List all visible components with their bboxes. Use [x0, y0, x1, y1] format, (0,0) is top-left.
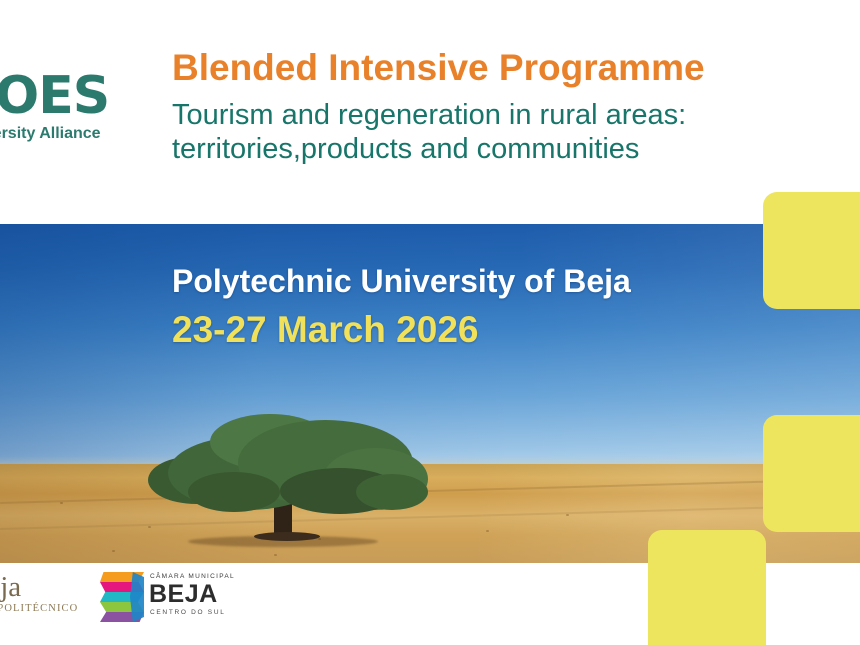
programme-subtitle-line1: Tourism and regeneration in rural areas:: [172, 98, 832, 132]
cork-oak-tree: [148, 412, 428, 544]
field-speck: [60, 502, 63, 504]
hero-text-block: Polytechnic University of Beja 23-27 Mar…: [172, 262, 631, 351]
event-dates: 23-27 March 2026: [172, 308, 631, 351]
ipbeja-wordmark: Beja: [0, 572, 21, 602]
tree-base: [254, 532, 320, 541]
tree-canopy: [188, 472, 280, 512]
poster-header: ROES University Alliance Blended Intensi…: [0, 0, 860, 224]
field-speck: [566, 514, 569, 516]
ipbeja-subline-1: UTO POLITÉCNICO: [0, 603, 78, 614]
field-speck: [486, 530, 489, 532]
centro-do-sul-label: CENTRO DO SUL: [150, 609, 226, 616]
tree-canopy: [356, 474, 428, 510]
beja-b-mark-icon: [100, 572, 144, 622]
event-poster: ROES University Alliance Blended Intensi…: [0, 0, 860, 645]
roes-alliance-logo: ROES University Alliance: [0, 70, 146, 148]
camara-municipal-label: CÂMARA MUNICIPAL: [150, 573, 235, 580]
beja-wordmark: BEJA: [149, 581, 218, 607]
beja-mark-spine: [130, 572, 144, 622]
roes-wordmark: ROES: [0, 70, 109, 122]
venue-name: Polytechnic University of Beja: [172, 262, 631, 300]
roes-tagline: University Alliance: [0, 125, 101, 143]
title-block: Blended Intensive Programme Tourism and …: [172, 46, 832, 166]
field-speck: [112, 550, 115, 552]
yellow-square-middle-right: [763, 415, 860, 532]
yellow-square-bottom: [648, 530, 766, 645]
programme-subtitle-line2: territories,products and communities: [172, 132, 832, 166]
field-speck: [274, 554, 277, 556]
programme-title: Blended Intensive Programme: [172, 46, 832, 90]
yellow-square-top-right: [763, 192, 860, 309]
camara-municipal-beja-logo: CÂMARA MUNICIPAL BEJA CENTRO DO SUL: [100, 570, 220, 626]
